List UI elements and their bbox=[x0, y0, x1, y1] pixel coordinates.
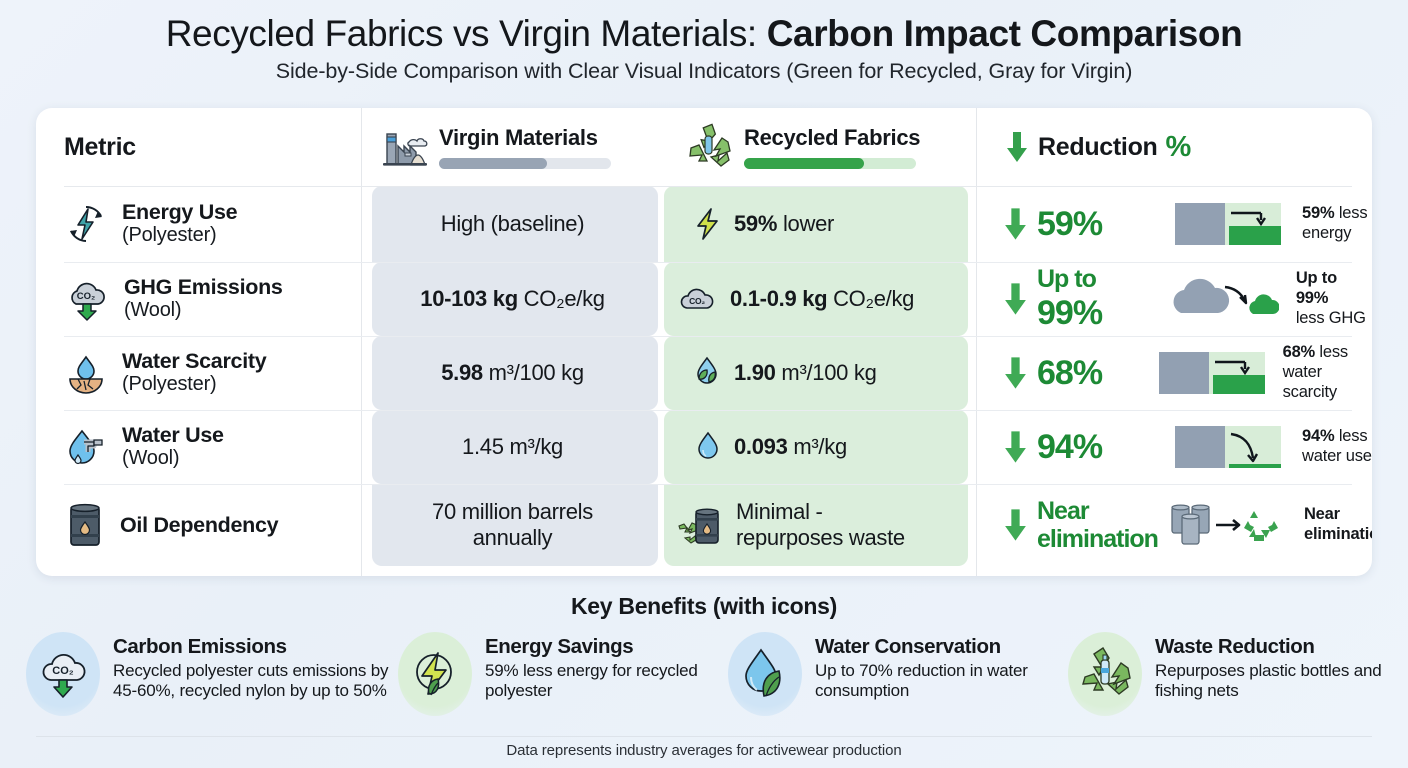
recycled-value: lower bbox=[777, 211, 834, 236]
table-row: Water Use (Wool) 1.45 m³/kg bbox=[36, 410, 1372, 484]
reduction-cell: Near elimination bbox=[976, 484, 1372, 566]
reduction-note-rest: less bbox=[1334, 427, 1367, 445]
benefit-desc: Up to 70% reduction in water consumption bbox=[815, 661, 1068, 702]
recycled-value-cell: CO₂ 0.1-0.9 kg CO₂e/kg bbox=[664, 262, 976, 336]
header-label-recycled: Recycled Fabrics bbox=[744, 125, 920, 151]
virgin-value-cell: 70 million barrels annually bbox=[361, 484, 664, 566]
recycled-value-cell: 1.90 m³/100 kg bbox=[664, 336, 976, 410]
title-block: Recycled Fabrics vs Virgin Materials: Ca… bbox=[0, 0, 1408, 84]
reduction-note-bold: Near bbox=[1304, 505, 1340, 523]
comparison-table-card: Metric bbox=[36, 108, 1372, 576]
co2-cloud-down-icon: CO₂ bbox=[26, 632, 100, 716]
recycled-value: CO₂e/kg bbox=[827, 286, 914, 311]
metric-sub: (Polyester) bbox=[122, 373, 266, 397]
table-row: Oil Dependency 70 million barrels annual… bbox=[36, 484, 1372, 566]
key-benefits-heading: Key Benefits (with icons) bbox=[0, 593, 1408, 620]
header-label-percent: % bbox=[1166, 131, 1192, 164]
energy-cycle-icon bbox=[64, 202, 108, 246]
virgin-progress-fill bbox=[439, 158, 547, 169]
bar-shrink-icon bbox=[1157, 348, 1267, 398]
reduction-prefix: Up to bbox=[1037, 265, 1102, 294]
infographic-page: Recycled Fabrics vs Virgin Materials: Ca… bbox=[0, 0, 1408, 768]
recycled-value: m³/kg bbox=[788, 434, 847, 459]
down-arrow-icon bbox=[1002, 507, 1029, 543]
reduction-cell: 94% 94% less water use bbox=[976, 410, 1372, 484]
reduction-note-bold: Up to 99% bbox=[1296, 269, 1337, 307]
down-arrow-icon bbox=[1002, 355, 1029, 391]
metric-name: Water Scarcity bbox=[122, 349, 266, 373]
recycled-value: m³/100 kg bbox=[776, 360, 877, 385]
benefit-desc: 59% less energy for recycled polyester bbox=[485, 661, 728, 702]
recycled-value-bold: 1.90 bbox=[734, 360, 776, 385]
svg-text:CO₂: CO₂ bbox=[689, 296, 705, 306]
down-arrow-icon bbox=[1002, 206, 1029, 242]
barrels-to-recycle-icon bbox=[1166, 499, 1296, 551]
footer-note: Data represents industry averages for ac… bbox=[0, 742, 1408, 759]
reduction-note: 94% less water use bbox=[1302, 427, 1372, 467]
factory-icon bbox=[379, 124, 429, 170]
reduction-value: 94% bbox=[1037, 430, 1102, 464]
virgin-value: 1.45 m³/kg bbox=[462, 434, 563, 460]
header-label-virgin: Virgin Materials bbox=[439, 125, 611, 151]
reduction-note-line2: less GHG bbox=[1296, 309, 1372, 329]
recycled-value: Minimal - bbox=[736, 499, 905, 525]
reduction-note-line2: water use bbox=[1302, 447, 1372, 467]
metric-sub: (Wool) bbox=[122, 447, 224, 471]
recycled-value-line2: repurposes waste bbox=[736, 525, 905, 551]
virgin-value-cell: High (baseline) bbox=[361, 186, 664, 262]
reduction-note: Near elimination bbox=[1304, 505, 1372, 545]
benefit-desc: Repurposes plastic bottles and fishing n… bbox=[1155, 661, 1388, 702]
benefit-title: Waste Reduction bbox=[1155, 636, 1388, 659]
header-cell-recycled: Recycled Fabrics bbox=[664, 108, 976, 186]
metric-name: GHG Emissions bbox=[124, 275, 283, 299]
svg-text:CO₂: CO₂ bbox=[52, 665, 74, 677]
reduction-prefix: Near bbox=[1037, 497, 1158, 526]
lightning-bolt-icon bbox=[692, 207, 722, 241]
water-drop-icon bbox=[694, 430, 722, 464]
benefit-item-waste-reduction: Waste Reduction Repurposes plastic bottl… bbox=[1068, 632, 1388, 716]
reduction-value: 68% bbox=[1037, 356, 1102, 390]
virgin-value-cell: 1.45 m³/kg bbox=[361, 410, 664, 484]
virgin-value: 70 million barrels bbox=[432, 499, 593, 525]
reduction-value: 99% bbox=[1037, 294, 1102, 333]
virgin-value-line2: annually bbox=[432, 525, 593, 551]
footer-divider bbox=[36, 736, 1372, 737]
virgin-value-cell: 10-103 kg CO₂e/kg bbox=[361, 262, 664, 336]
water-drop-cracked-earth-icon bbox=[64, 351, 108, 395]
table-header: Metric bbox=[36, 108, 1372, 186]
page-title: Recycled Fabrics vs Virgin Materials: Ca… bbox=[0, 13, 1408, 54]
water-leaf-icon bbox=[728, 632, 802, 716]
virgin-value-bold: 10-103 kg bbox=[420, 286, 518, 311]
virgin-value: m³/100 kg bbox=[483, 360, 584, 385]
header-label-reduction: Reduction bbox=[1038, 133, 1158, 162]
faucet-drop-icon bbox=[64, 425, 108, 469]
reduction-note-rest: less bbox=[1334, 204, 1367, 222]
energy-leaf-icon bbox=[398, 632, 472, 716]
recycled-value-cell: Minimal - repurposes waste bbox=[664, 484, 976, 566]
oil-barrel-icon bbox=[64, 501, 106, 549]
reduction-note-bold: 68% bbox=[1283, 343, 1315, 361]
reduction-note-line2: water scarcity bbox=[1283, 363, 1372, 403]
benefit-title: Energy Savings bbox=[485, 636, 728, 659]
virgin-progress-track bbox=[439, 158, 611, 169]
reduction-value: elimination bbox=[1037, 525, 1158, 554]
key-benefits-row: CO₂ Carbon Emissions Recycled polyester … bbox=[12, 632, 1396, 716]
page-title-plain: Recycled Fabrics vs Virgin Materials: bbox=[166, 13, 767, 54]
metric-name: Oil Dependency bbox=[120, 513, 278, 537]
reduction-note: Up to 99% less GHG bbox=[1296, 269, 1372, 328]
page-title-bold: Carbon Impact Comparison bbox=[767, 13, 1243, 54]
header-label-metric: Metric bbox=[36, 133, 136, 162]
reduction-note-rest: less bbox=[1315, 343, 1348, 361]
page-subtitle: Side-by-Side Comparison with Clear Visua… bbox=[0, 59, 1408, 84]
table-row: Energy Use (Polyester) High (baseline) 5… bbox=[36, 186, 1372, 262]
metric-name: Water Use bbox=[122, 423, 224, 447]
header-cell-metric: Metric bbox=[36, 108, 361, 186]
bar-shrink-icon bbox=[1170, 422, 1286, 472]
benefit-item-energy-savings: Energy Savings 59% less energy for recyc… bbox=[398, 632, 728, 716]
reduction-cell: 68% 68% less wat bbox=[976, 336, 1372, 410]
reduction-cell: Up to 99% Up to 99% bbox=[976, 262, 1372, 336]
benefit-title: Water Conservation bbox=[815, 636, 1068, 659]
reduction-note-bold: 94% bbox=[1302, 427, 1334, 445]
virgin-value: CO₂e/kg bbox=[518, 286, 605, 311]
benefit-item-carbon-emissions: CO₂ Carbon Emissions Recycled polyester … bbox=[12, 632, 398, 716]
header-cell-virgin: Virgin Materials bbox=[361, 108, 664, 186]
down-arrow-icon bbox=[1004, 130, 1030, 164]
benefit-item-water-conservation: Water Conservation Up to 70% reduction i… bbox=[728, 632, 1068, 716]
metric-name: Energy Use bbox=[122, 200, 237, 224]
table-row: CO₂ GHG Emissions (Wool) 10-103 kg CO₂e/… bbox=[36, 262, 1372, 336]
recycled-value-bold: 0.093 bbox=[734, 434, 788, 459]
reduction-cell: 59% 59% less ene bbox=[976, 186, 1372, 262]
co2-cloud-icon: CO₂ bbox=[678, 284, 718, 314]
header-cell-reduction: Reduction % bbox=[976, 108, 1372, 186]
table-row: Water Scarcity (Polyester) 5.98 m³/100 k… bbox=[36, 336, 1372, 410]
reduction-note: 59% less energy bbox=[1302, 204, 1367, 244]
recycled-progress-track bbox=[744, 158, 916, 169]
metric-sub: (Wool) bbox=[124, 299, 283, 323]
reduction-note-line2: energy bbox=[1302, 224, 1367, 244]
metric-sub: (Polyester) bbox=[122, 224, 237, 248]
down-arrow-icon bbox=[1002, 281, 1029, 317]
recycled-value-cell: 0.093 m³/kg bbox=[664, 410, 976, 484]
reduction-note: 68% less water scarcity bbox=[1283, 343, 1372, 402]
reduction-note-bold: 59% bbox=[1302, 204, 1334, 222]
benefit-desc: Recycled polyester cuts emissions by 45-… bbox=[113, 661, 398, 702]
down-arrow-icon bbox=[1002, 429, 1029, 465]
co2-cloud-down-icon: CO₂ bbox=[64, 277, 110, 321]
reduction-value-group: Up to 99% bbox=[1037, 265, 1102, 332]
svg-text:CO₂: CO₂ bbox=[77, 291, 95, 302]
recycle-symbol-icon bbox=[682, 123, 734, 171]
reduction-note-line2: elimination bbox=[1304, 525, 1372, 545]
recycled-progress-fill bbox=[744, 158, 864, 169]
virgin-value-cell: 5.98 m³/100 kg bbox=[361, 336, 664, 410]
virgin-value-bold: 5.98 bbox=[441, 360, 483, 385]
virgin-value: High (baseline) bbox=[441, 211, 584, 237]
recycle-bottle-icon bbox=[1068, 632, 1142, 716]
recycled-value-cell: 59% lower bbox=[664, 186, 976, 262]
recycled-value-bold: 0.1-0.9 kg bbox=[730, 286, 827, 311]
recycled-value-bold: 59% bbox=[734, 211, 777, 236]
benefit-title: Carbon Emissions bbox=[113, 636, 398, 659]
eco-water-drop-icon bbox=[692, 355, 722, 391]
reduction-value-group: Near elimination bbox=[1037, 497, 1158, 554]
reduction-value: 59% bbox=[1037, 207, 1102, 241]
bar-shrink-icon bbox=[1170, 199, 1286, 249]
recycled-barrel-icon bbox=[676, 503, 724, 547]
cloud-shrink-icon bbox=[1167, 273, 1280, 325]
